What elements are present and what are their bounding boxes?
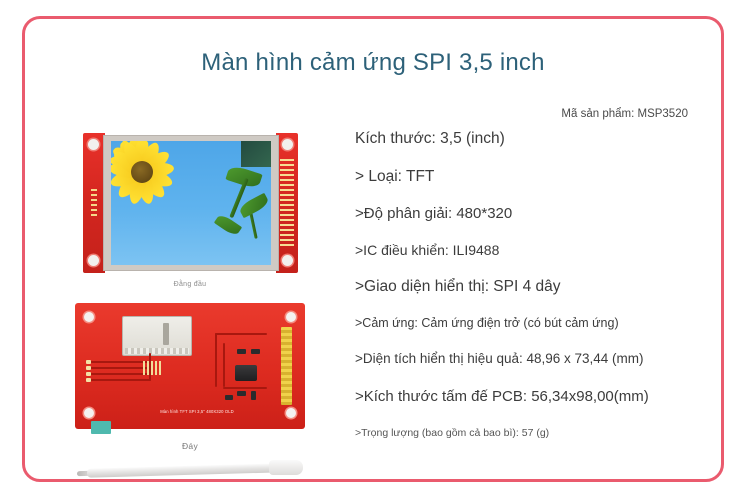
spec-item-interface: >Giao diện hiển thị: SPI 4 dây (355, 279, 725, 295)
spec-item-resolution: >Độ phân giải: 480*320 (355, 206, 725, 221)
spec-item-size: Kích thước: 3,5 (inch) (355, 131, 725, 147)
smd-component (237, 391, 246, 396)
spec-item-touch: >Cảm ứng: Cảm ứng điện trở (có bút cảm ứ… (355, 317, 725, 330)
pcb-trace (215, 333, 217, 387)
mounting-hole (84, 312, 94, 322)
teal-tab-marker (91, 421, 111, 434)
smd-component (225, 395, 233, 400)
product-info-card: Màn hình cảm ứng SPI 3,5 inch Mã sản phẩ… (22, 16, 724, 482)
spec-item-type: > Loại: TFT (355, 169, 725, 185)
spec-item-driver-ic: >IC điều khiển: ILI9488 (355, 243, 725, 257)
pin-header-right (280, 159, 294, 247)
pcb-trace (215, 333, 267, 335)
spec-item-weight: >Trọng lượng (bao gồm cả bao bì): 57 (g) (355, 428, 725, 439)
stylus-image (73, 459, 305, 481)
driver-ic-chip (235, 365, 257, 381)
back-image-caption: Đáy (55, 441, 325, 451)
background-foliage (241, 141, 271, 167)
specification-list: Kích thước: 3,5 (inch) > Loại: TFT >Độ p… (355, 131, 725, 438)
product-code-label: Mã sản phẩm: MSP3520 (561, 108, 688, 120)
smd-component (251, 391, 256, 400)
solder-pads-left (91, 189, 97, 219)
mounting-hole (282, 139, 293, 150)
spec-item-pcb-size: >Kích thước tấm đế PCB: 56,34x98,00(mm) (355, 389, 725, 404)
pcb-trace (89, 361, 151, 363)
pin-header-gold (281, 327, 292, 405)
sd-slot-latch (163, 323, 169, 345)
solder-pad (86, 360, 91, 364)
product-image-front (83, 133, 298, 273)
smd-component (237, 349, 246, 354)
solder-pad (86, 366, 91, 370)
pcb-trace (89, 367, 151, 369)
leaf-shape (238, 193, 271, 219)
leaf-shape (214, 213, 242, 237)
mounting-hole (286, 408, 296, 418)
product-image-back: Màn hình TFT SPI 3,5" 480X320 OLD (75, 303, 305, 429)
mounting-hole (84, 408, 94, 418)
stylus-body (87, 463, 283, 477)
solder-pad (86, 372, 91, 376)
smd-component (251, 349, 260, 354)
pcb-trace (223, 343, 225, 387)
product-image-column: Đằng đầu (55, 111, 325, 491)
mounting-hole (88, 255, 99, 266)
display-screen (111, 141, 271, 265)
mounting-hole (286, 312, 296, 322)
stylus-cap (269, 460, 303, 475)
pcb-trace (89, 373, 151, 375)
page-title: Màn hình cảm ứng SPI 3,5 inch (25, 49, 721, 77)
spec-item-active-area: >Diện tích hiển thị hiệu quả: 48,96 x 73… (355, 352, 725, 366)
pcb-silkscreen-text: Màn hình TFT SPI 3,5" 480X320 OLD (137, 409, 257, 414)
front-image-caption: Đằng đầu (55, 281, 325, 288)
pcb-trace (89, 379, 151, 381)
flower-center (131, 161, 153, 183)
mounting-hole (88, 139, 99, 150)
pcb-trace (223, 387, 267, 389)
solder-pad (86, 378, 91, 382)
sd-card-slot (122, 316, 192, 356)
solder-pad-grid (143, 361, 161, 375)
sd-slot-pins (125, 348, 189, 354)
sunflower-main (111, 229, 173, 265)
mounting-hole (282, 255, 293, 266)
